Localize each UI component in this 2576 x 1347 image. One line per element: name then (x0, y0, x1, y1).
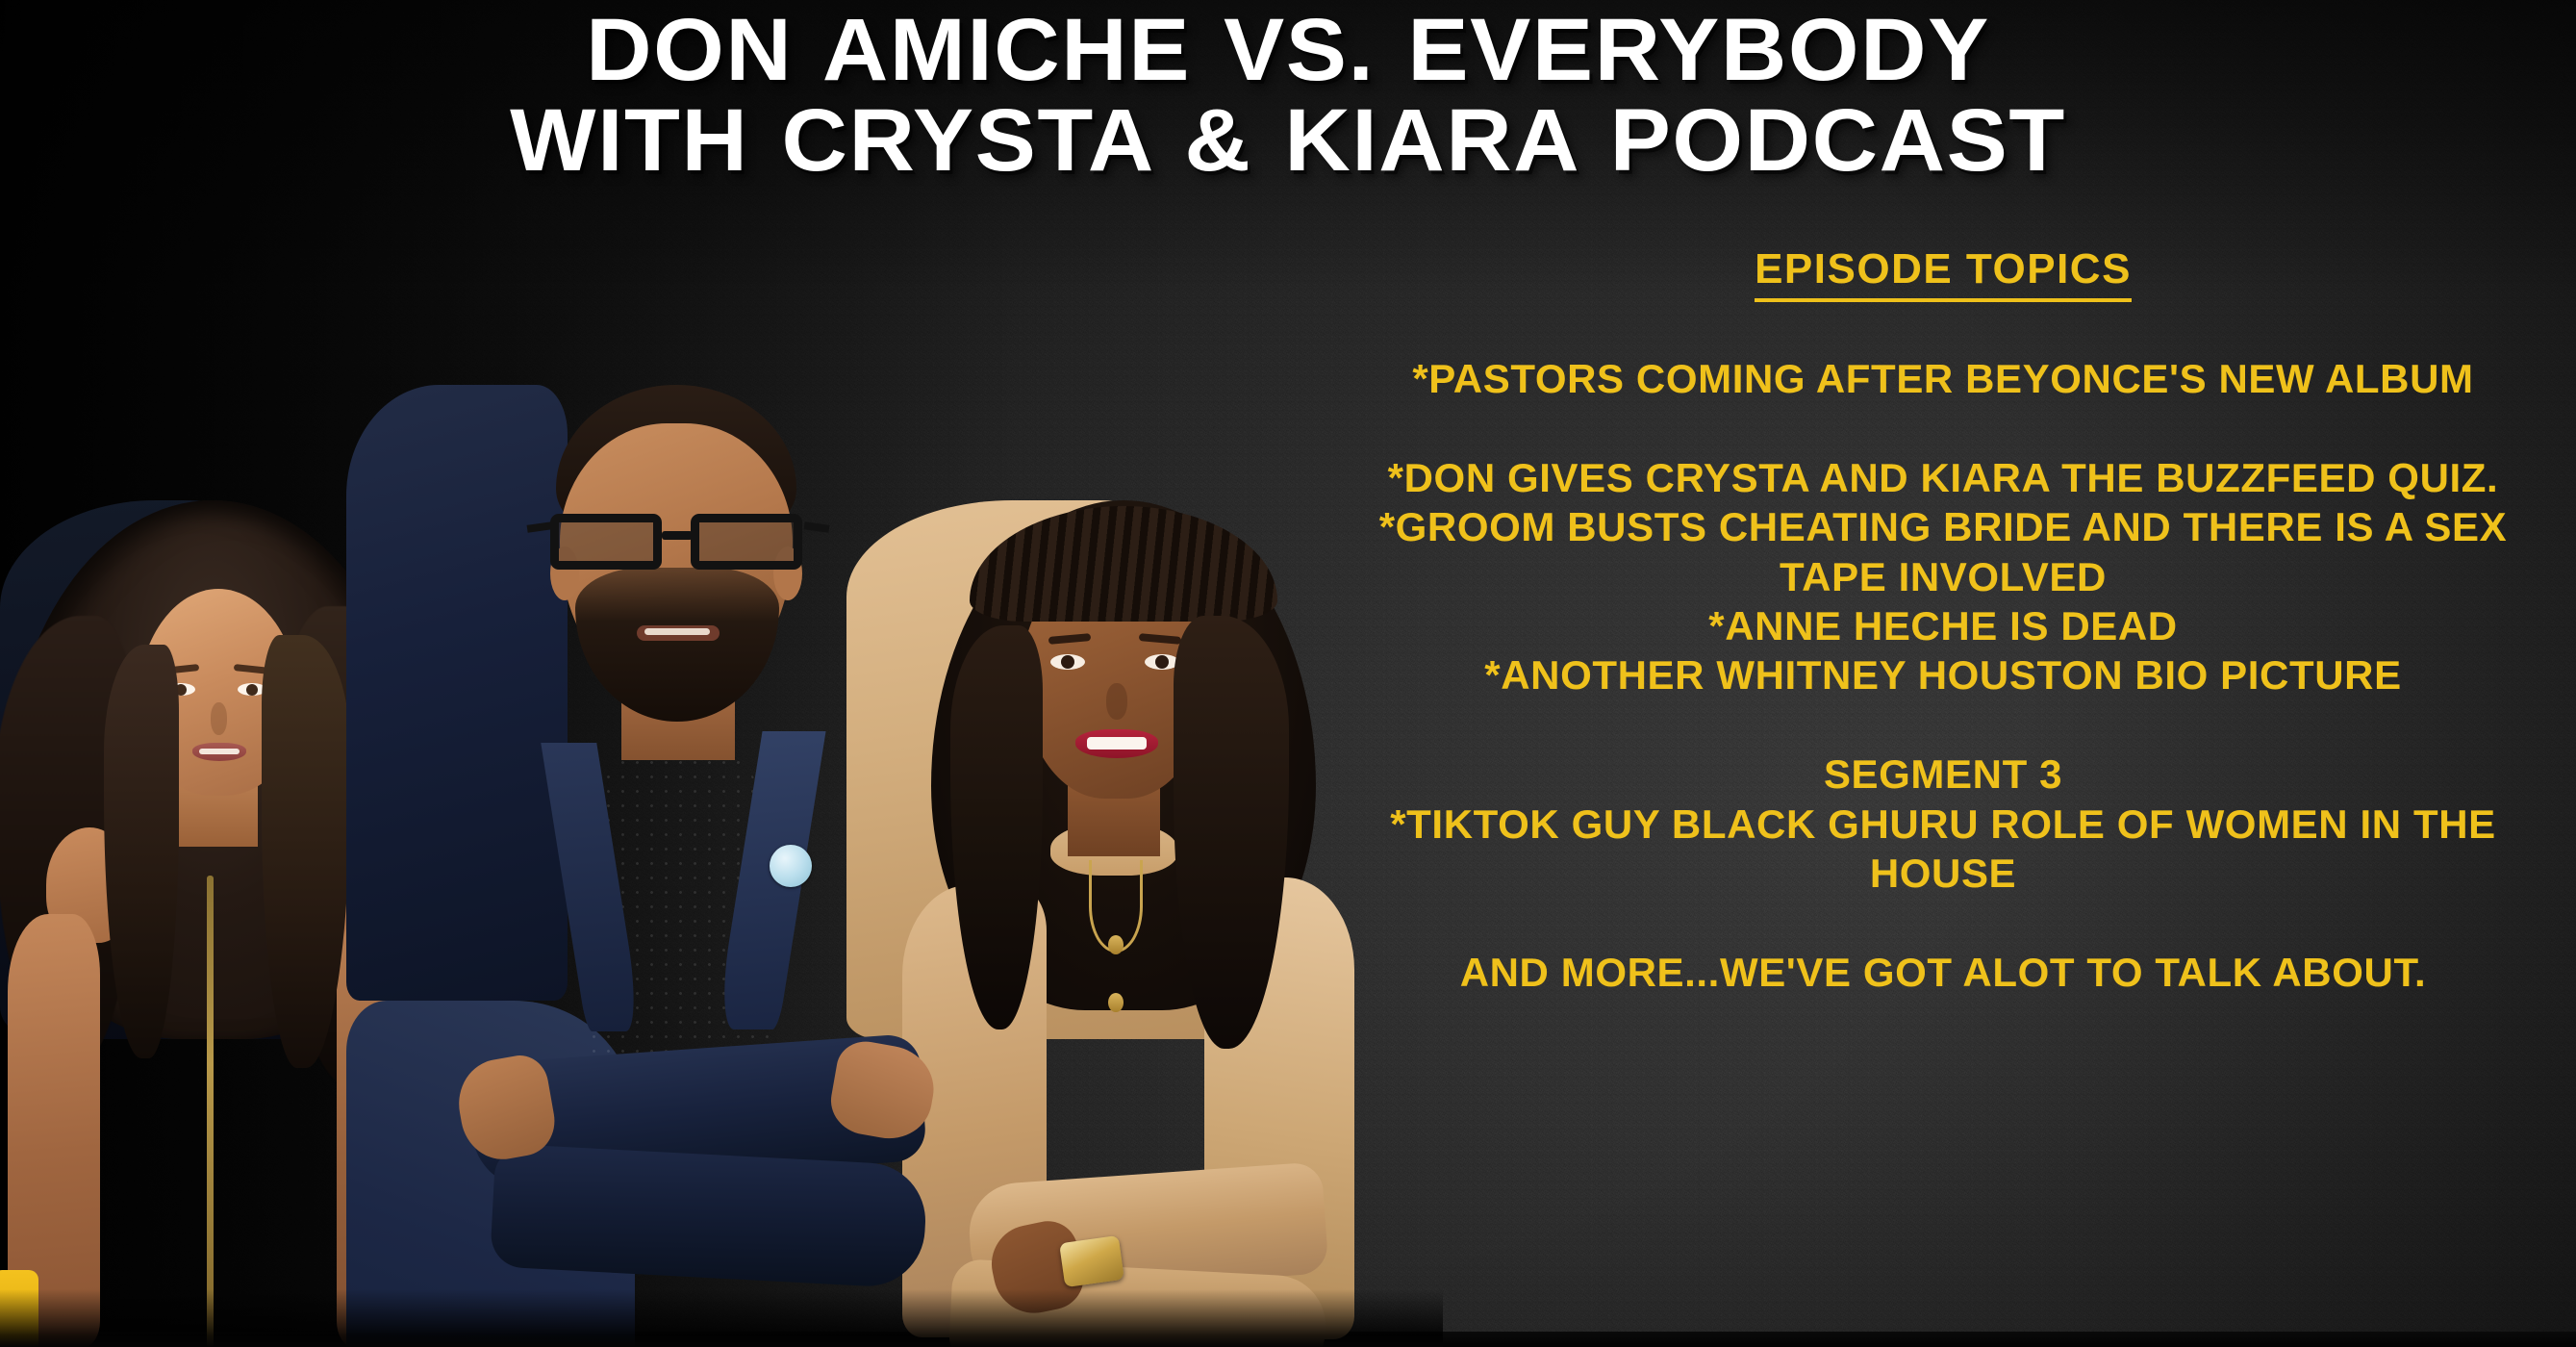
podcast-episode-graphic: DON AMICHE VS. EVERYBODY WITH CRYSTA & K… (0, 0, 2576, 1347)
don-arm-lower (490, 1143, 928, 1288)
kiara-lips (1075, 729, 1158, 758)
title-line-2: WITH CRYSTA & KIARA PODCAST (0, 96, 2576, 187)
topic-group: *PASTORS COMING AFTER BEYONCE'S NEW ALBU… (1327, 354, 2559, 403)
topic-line: *GROOM BUSTS CHEATING BRIDE AND THERE IS… (1327, 502, 2559, 551)
kiara-eyebrow-right (1139, 633, 1182, 645)
don-mouth (637, 625, 720, 641)
kiara-pendant-upper (1108, 935, 1124, 954)
topic-groups: *PASTORS COMING AFTER BEYONCE'S NEW ALBU… (1327, 354, 2559, 997)
topic-line: *ANOTHER WHITNEY HOUSTON BIO PICTURE (1327, 650, 2559, 699)
glasses-temple-right (804, 521, 830, 533)
topic-line: SEGMENT 3 (1327, 750, 2559, 799)
eyeglasses-icon (539, 510, 818, 573)
crysta-dress-zipper (207, 876, 214, 1347)
don-blazer-left (346, 385, 568, 1001)
don-beard (575, 568, 779, 722)
topic-line: *PASTORS COMING AFTER BEYONCE'S NEW ALBU… (1327, 354, 2559, 403)
lapel-pin-icon (770, 845, 812, 887)
photo-bottom-fade (0, 1289, 1443, 1347)
kiara-eyebrow-left (1048, 633, 1092, 645)
kiara-nose (1106, 683, 1127, 720)
page-title: DON AMICHE VS. EVERYBODY WITH CRYSTA & K… (0, 6, 2576, 187)
episode-topics-panel: EPISODE TOPICS *PASTORS COMING AFTER BEY… (1327, 245, 2559, 997)
hosts-photo (0, 58, 1443, 1347)
topic-line: HOUSE (1327, 849, 2559, 898)
topic-line: *ANNE HECHE IS DEAD (1327, 601, 2559, 650)
topic-line: *DON GIVES CRYSTA AND KIARA THE BUZZFEED… (1327, 453, 2559, 502)
kiara-gold-watch (1059, 1235, 1124, 1287)
glasses-lens-right (691, 514, 802, 570)
crysta-nose (211, 702, 227, 735)
kiara-teeth (1087, 737, 1147, 750)
title-line-1: DON AMICHE VS. EVERYBODY (0, 6, 2576, 96)
topic-line: *TIKTOK GUY BLACK GHURU ROLE OF WOMEN IN… (1327, 800, 2559, 849)
glasses-lens-left (550, 514, 662, 570)
kiara-eye-left (1050, 654, 1085, 670)
topic-line: AND MORE...WE'VE GOT ALOT TO TALK ABOUT. (1327, 948, 2559, 997)
glasses-bridge (662, 531, 693, 540)
episode-topics-heading: EPISODE TOPICS (1755, 245, 2132, 302)
topic-group: SEGMENT 3*TIKTOK GUY BLACK GHURU ROLE OF… (1327, 750, 2559, 898)
topic-line: TAPE INVOLVED (1327, 552, 2559, 601)
kiara-pendant-lower (1108, 993, 1124, 1012)
crysta-lips (192, 743, 246, 761)
topic-group: *DON GIVES CRYSTA AND KIARA THE BUZZFEED… (1327, 453, 2559, 699)
topic-group: AND MORE...WE'VE GOT ALOT TO TALK ABOUT. (1327, 948, 2559, 997)
